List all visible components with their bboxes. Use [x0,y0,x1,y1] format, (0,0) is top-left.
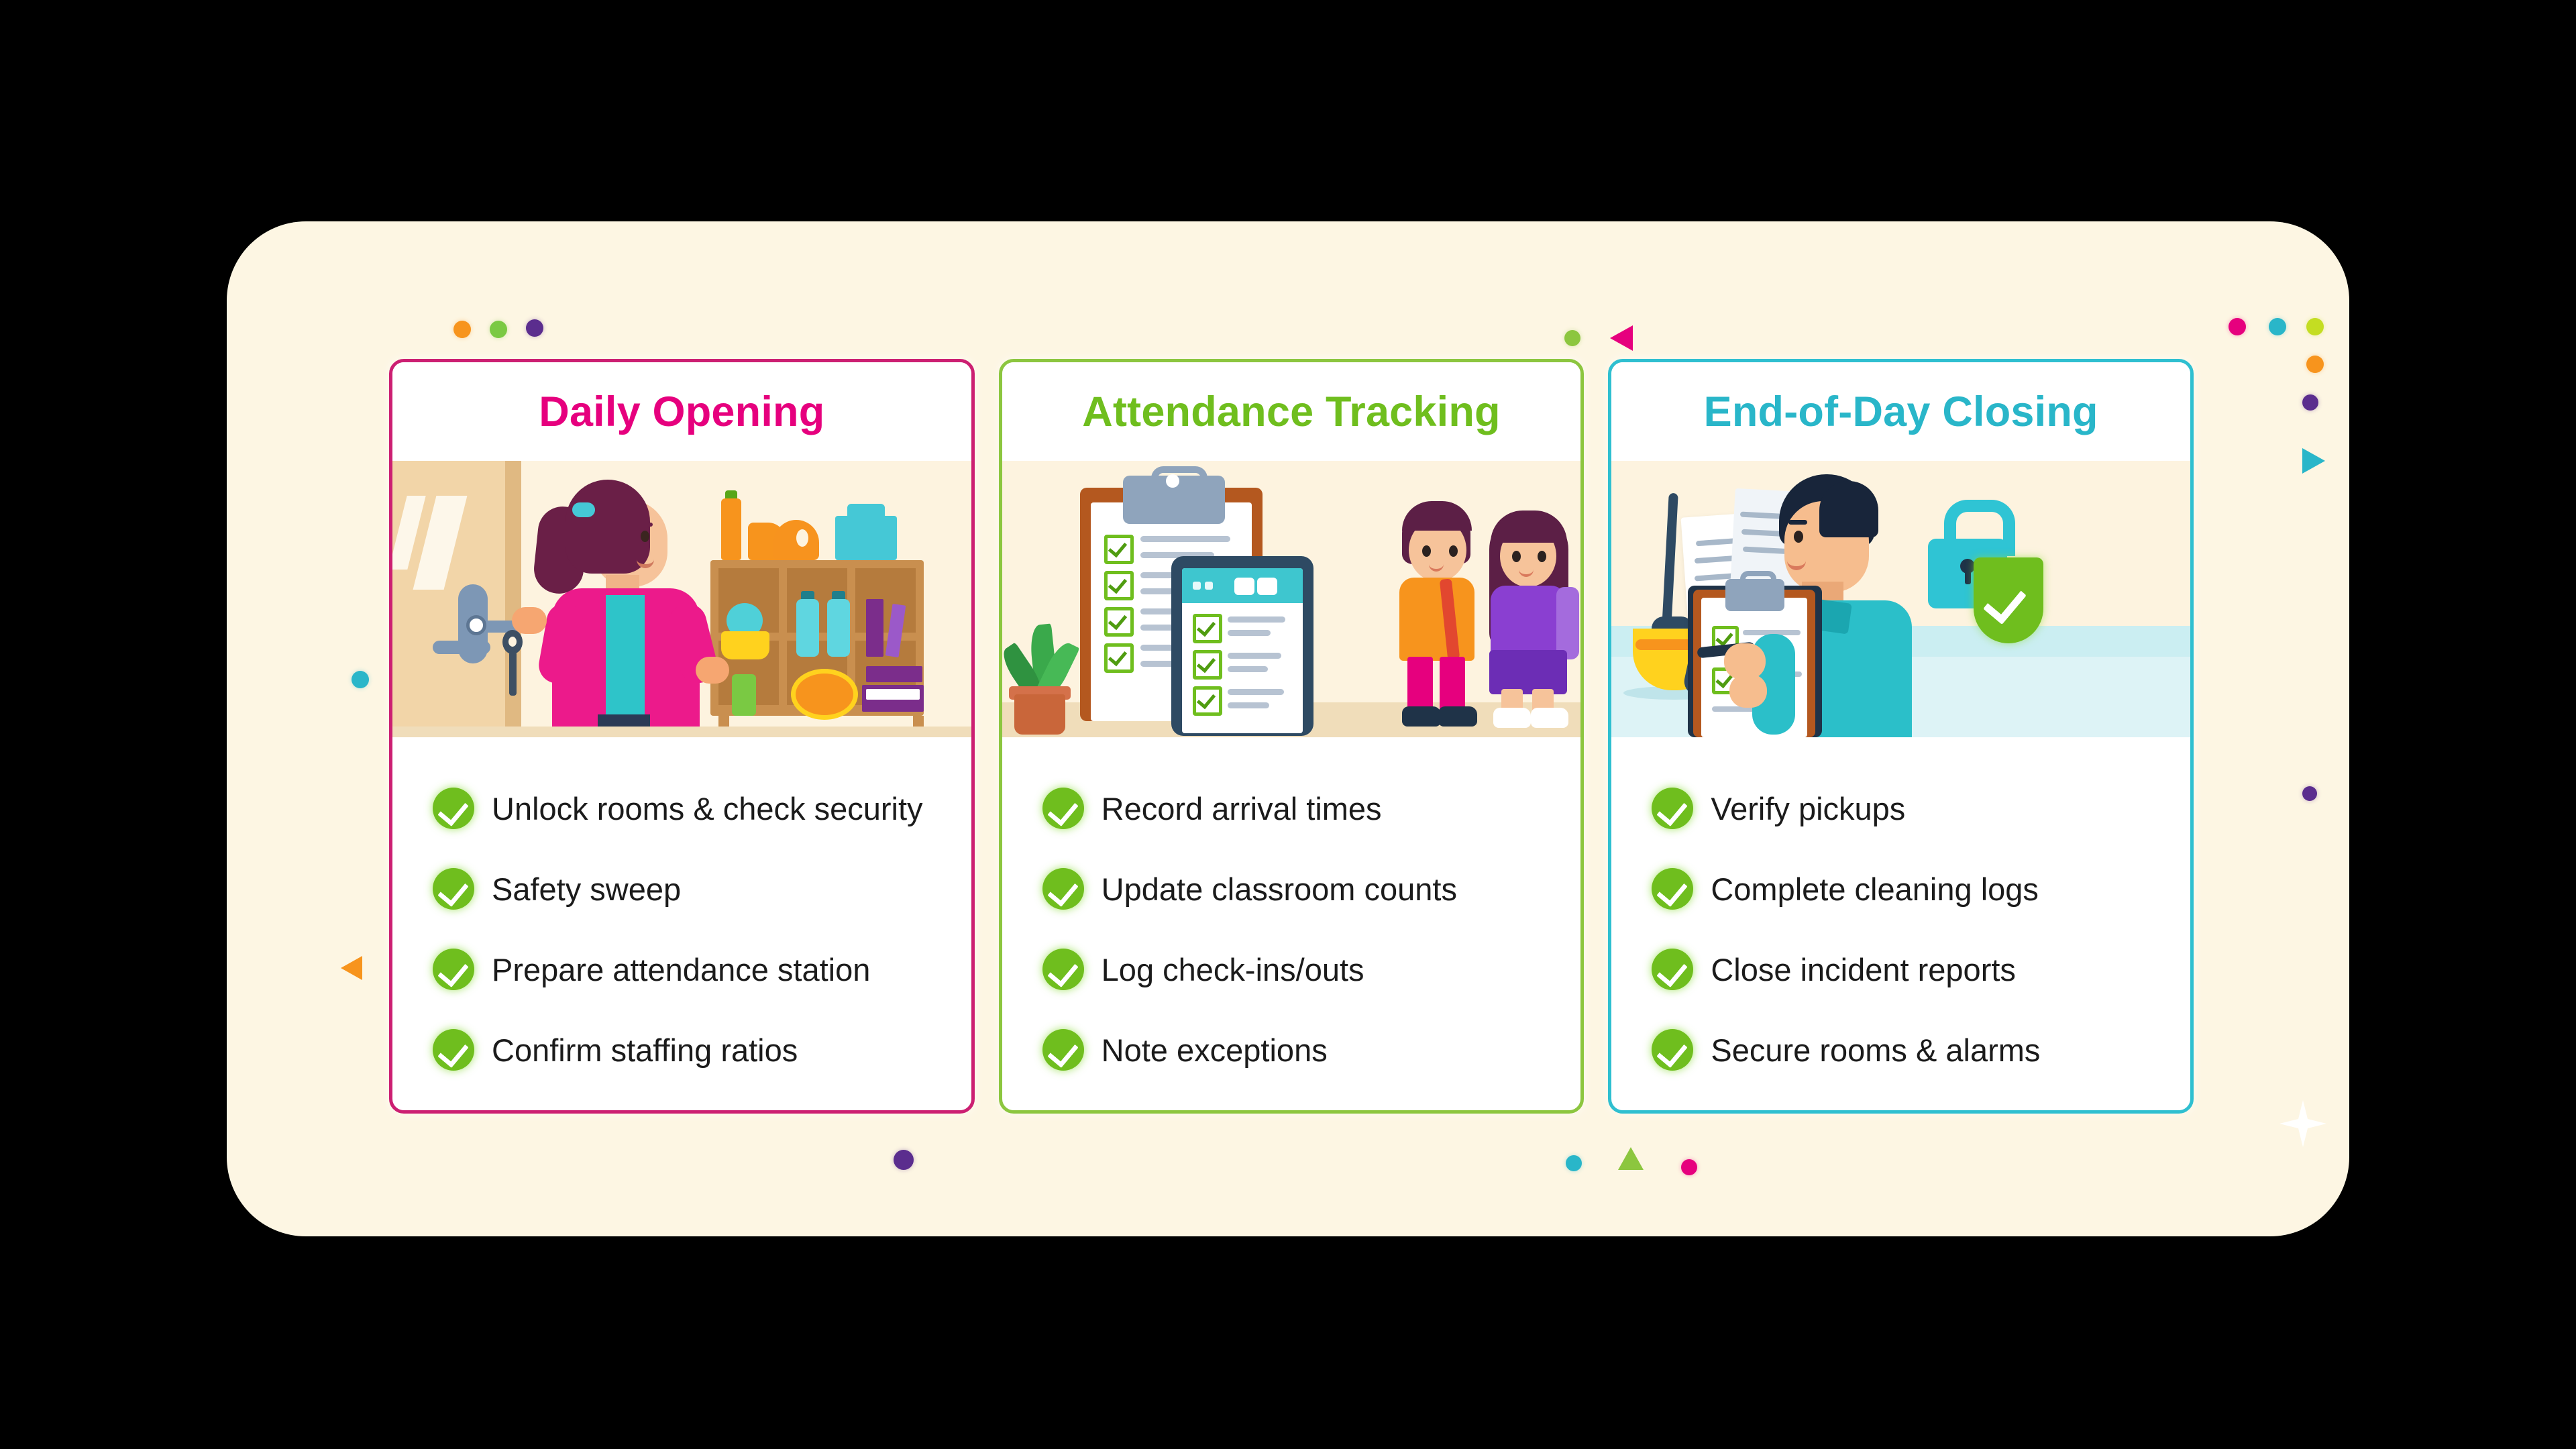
boy-eye-left [1422,545,1431,557]
juice-bottle-icon [721,498,741,560]
dot-lime-top-right [2306,318,2324,335]
girl-eye-left [1512,551,1521,562]
screenshot-root: Daily Opening [0,0,2576,1449]
infographic-panel: Daily Opening [227,221,2349,1236]
card-daily-opening[interactable]: Daily Opening [389,359,975,1114]
card-title-attendance-tracking: Attendance Tracking [1002,362,1581,461]
boy-shoe-right [1438,706,1477,727]
floor-strip [392,727,971,737]
key-stem [509,651,517,696]
book-page-strip [866,689,920,700]
tablet-line [1228,616,1285,623]
check-circle-icon [1652,788,1693,829]
list-item[interactable]: Log check-ins/outs [1042,929,1581,1010]
list-item[interactable]: Note exceptions [1042,1010,1581,1090]
list-item-label: Log check-ins/outs [1102,954,1364,985]
check-circle-icon [1042,1029,1084,1071]
dot-pink-bottom [1681,1159,1697,1175]
list-item-label: Unlock rooms & check security [492,793,923,824]
padlock-keyhole-slot [1965,570,1971,584]
book-icon-3 [866,666,922,682]
tablet-line [1228,702,1269,708]
girl-skirt [1489,650,1567,694]
tablet-line [1228,630,1271,636]
list-item[interactable]: Safety sweep [433,849,971,929]
dot-purple-lower-right [2302,786,2317,801]
boy-eye-right [1449,545,1458,557]
card-title-end-of-day-closing: End-of-Day Closing [1611,362,2190,461]
left-hand-holding-key [512,607,547,634]
tablet-checkbox-icon [1193,650,1222,680]
eyebrow [637,523,653,527]
card-attendance-tracking[interactable]: Attendance Tracking [999,359,1585,1114]
list-item-label: Note exceptions [1102,1034,1328,1066]
plant-pot-icon [1014,694,1065,735]
dot-cyan-left [352,671,369,688]
check-circle-icon [1042,788,1084,829]
dot-green-top-left [490,321,507,338]
clipboard-line [1140,536,1230,542]
checklist-daily-opening: Unlock rooms & check security Safety swe… [392,737,971,1110]
list-item[interactable]: Complete cleaning logs [1652,849,2190,929]
checkbox-checked-icon [1104,607,1134,637]
check-circle-icon [1652,868,1693,910]
illustration-attendance-tracking [1002,461,1581,737]
door-handle-icon [433,641,490,654]
list-item-label: Verify pickups [1711,793,1905,824]
dot-orange-right [2306,356,2324,373]
plate-icon [791,669,858,720]
list-item[interactable]: Secure rooms & alarms [1652,1010,2190,1090]
list-item-label: Update classroom counts [1102,873,1457,905]
tablet-checkbox-icon [1193,686,1222,716]
check-circle-icon [1042,868,1084,910]
man-fingers [1729,674,1767,708]
dot-cyan-bottom [1566,1155,1582,1171]
dot-purple-right [2302,394,2318,411]
illustration-daily-opening [392,461,971,737]
card-title-daily-opening: Daily Opening [392,362,971,461]
list-item-label: Complete cleaning logs [1711,873,2039,905]
list-item[interactable]: Unlock rooms & check security [433,768,971,849]
boy-shirt [1399,578,1474,661]
checklist-end-of-day-closing: Verify pickups Complete cleaning logs Cl… [1611,737,2190,1110]
clipboard-clip-hole [1166,474,1179,488]
check-circle-icon [1652,1029,1693,1071]
tablet-line [1228,689,1284,695]
list-item-label: Prepare attendance station [492,954,870,985]
check-circle-icon [433,949,474,990]
list-item[interactable]: Verify pickups [1652,768,2190,849]
green-spray-bottle-icon [732,674,756,716]
yellow-bowl-icon [721,631,769,659]
clipboard-clip [1725,579,1784,611]
dot-orange-top-left [453,321,471,338]
list-item-label: Close incident reports [1711,954,2016,985]
orange-jug-icon [773,520,819,560]
eye [641,531,649,542]
tablet-header-pill-1 [1234,578,1254,595]
key-icon [502,630,523,654]
man-eyebrow [1788,520,1807,525]
water-bottle-icon-1 [796,599,819,657]
water-bottle-icon-2 [827,599,850,657]
checkbox-checked-icon [1104,535,1134,564]
girl-fringe [1491,511,1567,543]
checklist-attendance-tracking: Record arrival times Update classroom co… [1002,737,1581,1110]
list-item[interactable]: Update classroom counts [1042,849,1581,929]
book-icon-1 [866,599,883,657]
dot-cyan-top-right [2269,318,2286,335]
dot-pink-top-right [2229,318,2246,335]
man-hair-top [1819,481,1878,537]
check-circle-icon [433,788,474,829]
check-circle-icon [433,868,474,910]
boy-fringe [1402,501,1472,531]
card-end-of-day-closing[interactable]: End-of-Day Closing [1608,359,2194,1114]
door-keyhole [466,615,486,635]
triangle-cyan-right [2302,448,2325,474]
dot-purple-bottom [894,1150,914,1170]
list-item-label: Record arrival times [1102,793,1382,824]
list-item[interactable]: Close incident reports [1652,929,2190,1010]
check-circle-icon [433,1029,474,1071]
girl-eye-right [1538,551,1546,562]
check-circle-icon [1652,949,1693,990]
tablet-line [1228,666,1268,672]
shelf-cell-3 [855,568,916,633]
tablet-header-pill-2 [1257,578,1277,595]
triangle-magenta-left [1610,325,1633,351]
hair-tie [572,502,595,517]
girl-shoe-right [1531,708,1568,728]
check-circle-icon [1042,949,1084,990]
door-frame [505,461,521,737]
sparkle-white-bottom-right [2279,1100,2326,1147]
list-item[interactable]: Record arrival times [1042,768,1581,849]
checkbox-checked-icon [1104,643,1134,673]
tablet-header-dot-1 [1193,582,1201,590]
storage-box-icon [835,516,897,560]
tablet-line [1228,653,1281,659]
dot-purple-top-left [526,319,543,337]
checkbox-checked-icon [1104,571,1134,600]
list-item-label: Confirm staffing ratios [492,1034,798,1066]
right-hand [696,657,729,684]
list-item-label: Safety sweep [492,873,681,905]
dot-lime-top-center [1564,330,1580,346]
checklist-cards-row: Daily Opening [389,359,2194,1114]
tablet-header-dot-2 [1205,582,1213,590]
girl-shoe-left [1493,708,1531,728]
tablet-checkbox-icon [1193,614,1222,643]
triangle-orange-left [341,956,362,980]
list-item[interactable]: Confirm staffing ratios [433,1010,971,1090]
triangle-lime-bottom [1618,1147,1644,1170]
girl-backpack [1556,587,1579,659]
list-item[interactable]: Prepare attendance station [433,929,971,1010]
list-item-label: Secure rooms & alarms [1711,1034,2040,1066]
boy-shoe-left [1402,706,1441,727]
illustration-end-of-day-closing [1611,461,2190,737]
